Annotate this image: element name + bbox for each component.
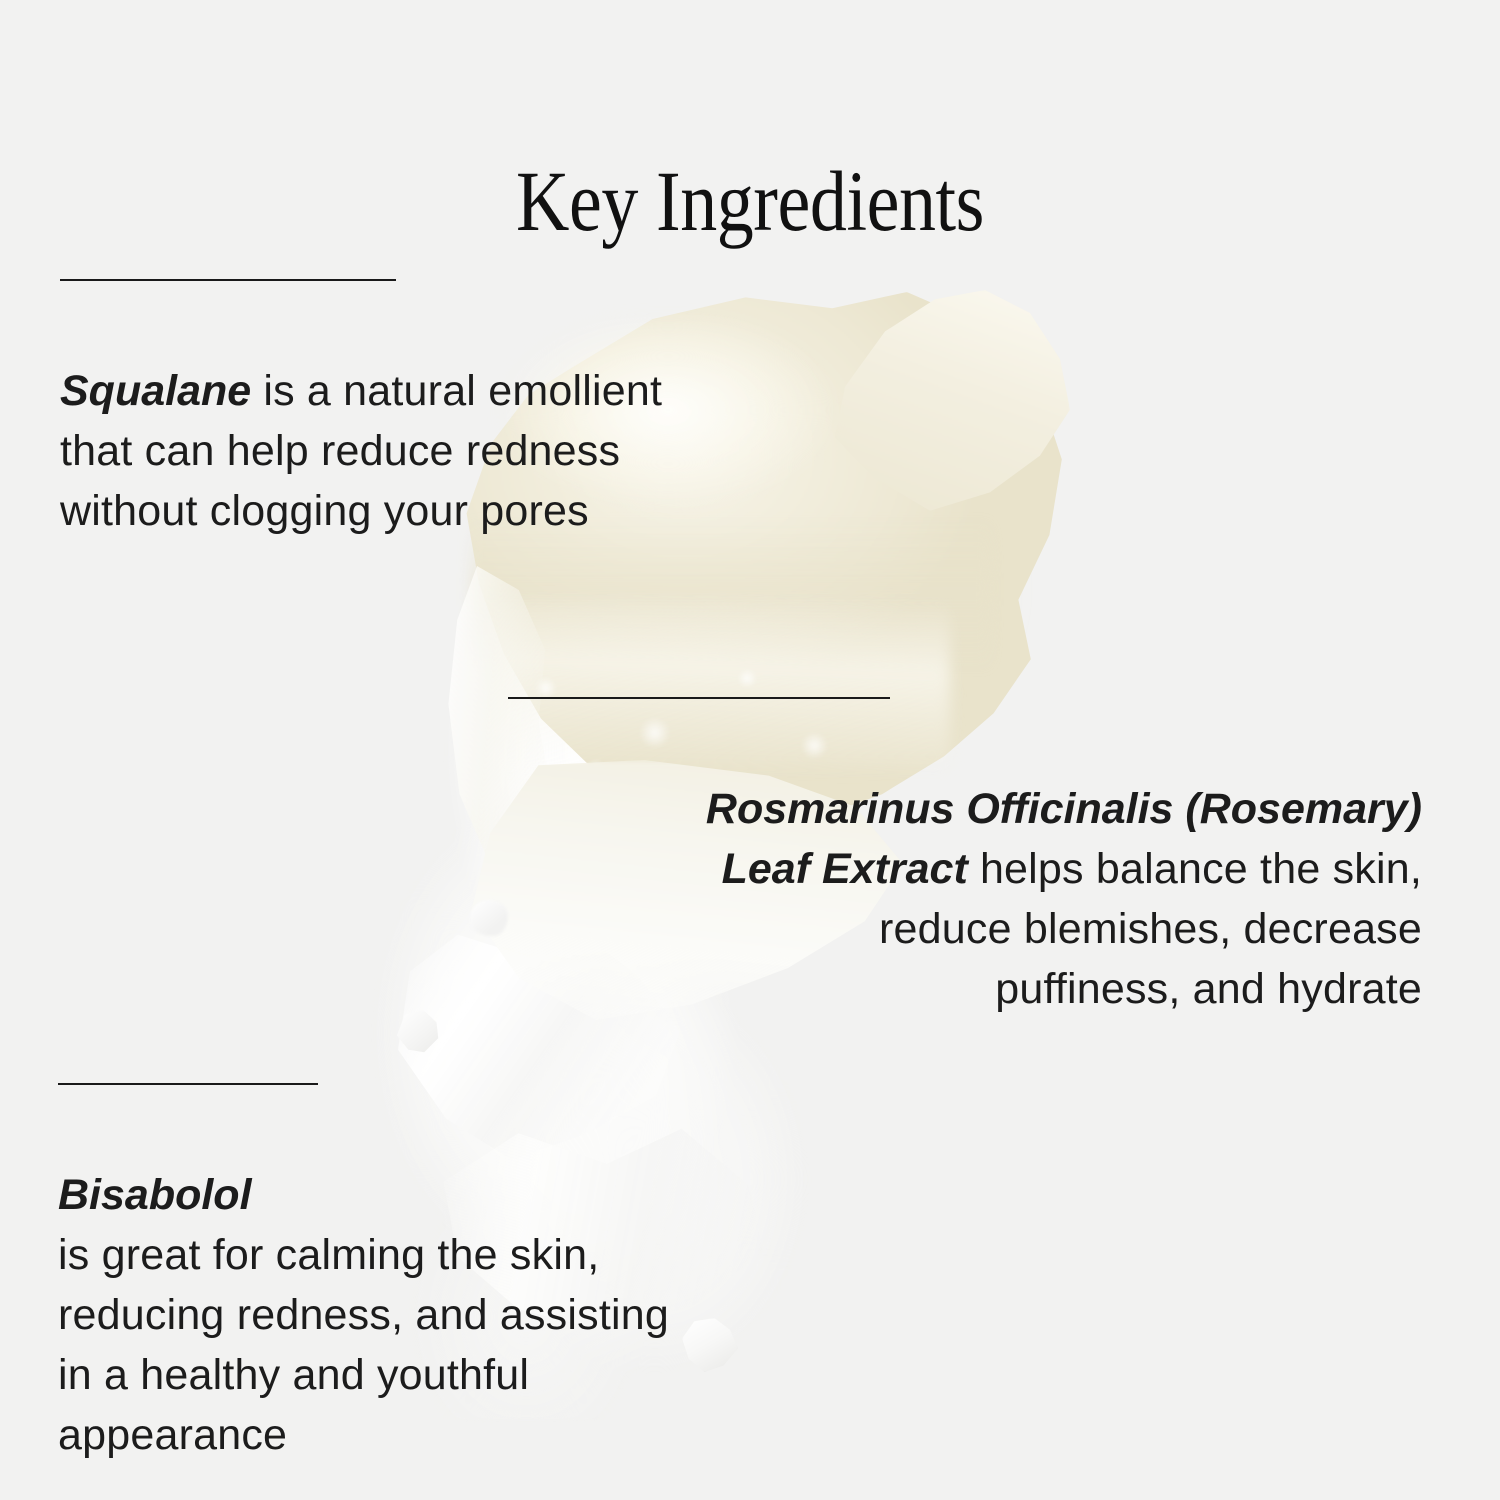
product-crumb-middle [396, 1010, 440, 1054]
cream-blob-fold-lower [490, 600, 950, 770]
ingredient-description-bisabolol: is great for calming the skin, reducing … [58, 1231, 669, 1459]
cream-blob-grain [470, 640, 890, 800]
ingredient-block-rosemary: Rosmarinus Officinalis (Rosemary) Leaf E… [440, 779, 1422, 1019]
ingredient-block-bisabolol: Bisabolol is great for calming the skin,… [58, 1165, 938, 1465]
divider-rule-squalane [60, 279, 396, 281]
ingredient-block-squalane: Squalane is a natural emollient that can… [60, 361, 940, 541]
divider-rule-bisabolol [58, 1083, 318, 1085]
page-title: Key Ingredients [105, 158, 1395, 244]
ingredient-name-bisabolol: Bisabolol [58, 1171, 252, 1219]
divider-rule-rosemary [508, 697, 890, 699]
cream-blob-fold-upper [470, 520, 990, 670]
ingredients-infographic: Key Ingredients Squalane is a natural em… [0, 0, 1500, 1500]
ingredient-name-squalane: Squalane [60, 367, 251, 415]
